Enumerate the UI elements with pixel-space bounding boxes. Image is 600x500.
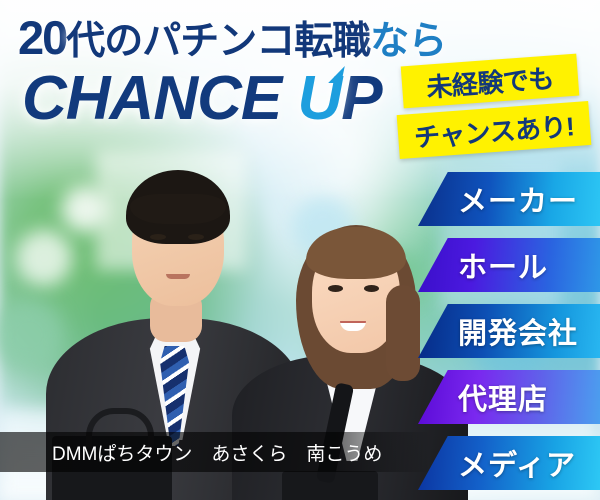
woman-eye-right <box>364 285 379 292</box>
category-label: メディア <box>458 442 576 484</box>
man-eye-right <box>188 234 204 240</box>
logo-letter-u-arrow: U <box>297 64 341 133</box>
status-badge: 未経験でも チャンスあり! <box>396 56 596 162</box>
woman-ponytail <box>386 285 420 381</box>
man-eye-left <box>150 234 166 240</box>
badge-line-2: チャンスあり! <box>397 101 592 159</box>
man-hair-fringe <box>130 194 226 224</box>
category-button-agency[interactable]: 代理店 <box>418 370 600 424</box>
badge-line-1: 未経験でも <box>401 54 580 109</box>
category-button-hall[interactable]: ホール <box>418 238 600 292</box>
advertisement-banner[interactable]: 20代のパチンコ転職なら CHANCE UP 未経験でも チャンスあり! メーカ… <box>0 0 600 500</box>
category-label: ホール <box>458 244 548 286</box>
caption-text: DMMぱちタウン あさくら 南こうめ <box>52 439 382 466</box>
category-label: 開発会社 <box>458 310 578 352</box>
chance-up-logo: CHANCE UP <box>22 68 382 130</box>
man-mouth <box>166 274 190 279</box>
category-button-media[interactable]: メディア <box>418 436 600 490</box>
caption-bar: DMMぱちタウン あさくら 南こうめ <box>0 432 430 472</box>
category-label: 代理店 <box>458 376 548 418</box>
logo-letter-p: P <box>341 64 381 133</box>
logo-text-chance: CHANCE <box>22 64 297 133</box>
headline-main: 代のパチンコ転職 <box>66 20 370 63</box>
headline-number: 20 <box>18 11 66 64</box>
category-label: メーカー <box>458 178 578 220</box>
category-button-developer[interactable]: 開発会社 <box>418 304 600 358</box>
category-button-maker[interactable]: メーカー <box>418 172 600 226</box>
woman-hair-fringe <box>306 227 406 279</box>
page-title: 20代のパチンコ転職なら <box>18 14 448 61</box>
woman-eye-left <box>328 285 343 292</box>
